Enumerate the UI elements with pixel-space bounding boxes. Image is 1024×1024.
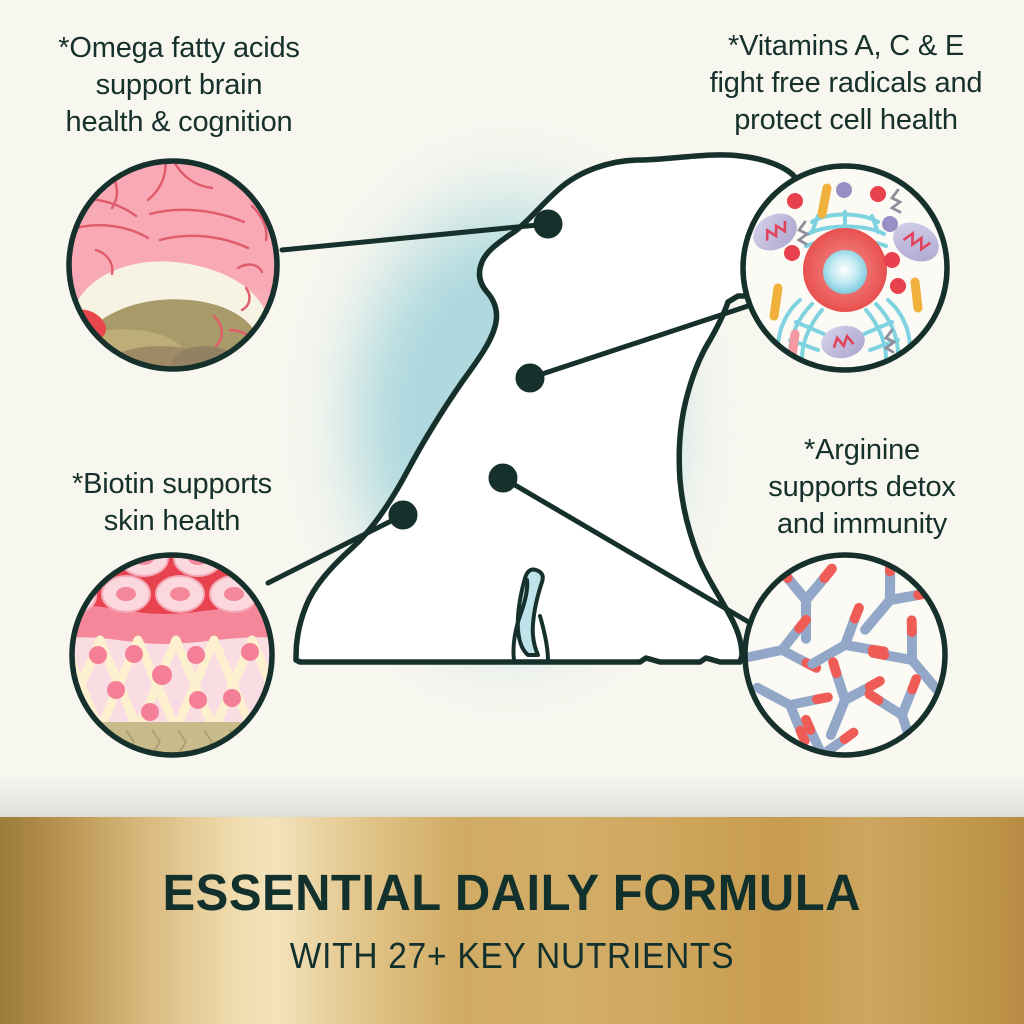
brain-icon [60,150,290,398]
infographic-canvas: *Omega fatty acids support brain health … [0,0,1024,1024]
cell-icon [743,166,947,370]
skin-layers-icon [48,540,310,777]
connector-omega-dot [536,212,560,236]
arginine-label: *Arginine supports detox and immunity [712,432,1012,543]
omega-fatty-acids-label: *Omega fatty acids support brain health … [4,30,354,141]
connector-vitamins-dot [518,366,542,390]
antibody-icon [741,555,956,797]
connector-arginine-dot [491,466,515,490]
bottom-banner: ESSENTIAL DAILY FORMULA WITH 27+ KEY NUT… [0,817,1024,1024]
vitamins-label: *Vitamins A, C & E fight free radicals a… [672,28,1020,139]
banner-title: ESSENTIAL DAILY FORMULA [163,867,861,918]
connector-biotin-dot [391,503,415,527]
biotin-label: *Biotin supports skin health [22,466,322,540]
banner-subtitle: WITH 27+ KEY NUTRIENTS [290,938,735,974]
banner-top-fade [0,775,1024,817]
